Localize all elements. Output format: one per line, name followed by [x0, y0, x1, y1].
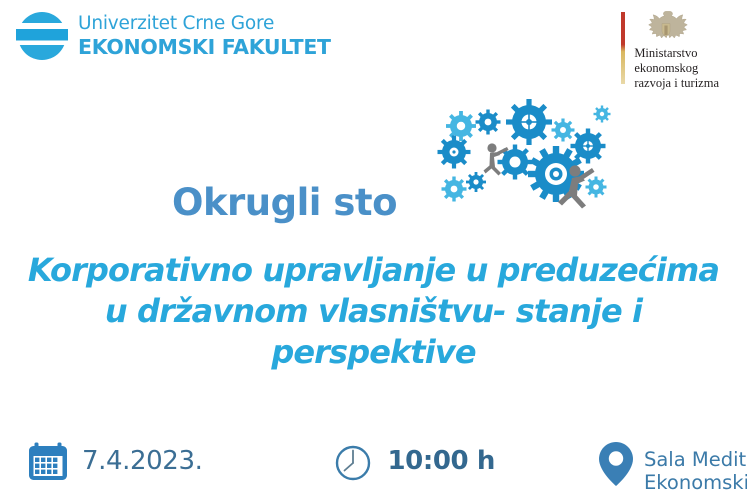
university-logo: Univerzitet Crne Gore EKONOMSKI FAKULTET — [14, 10, 331, 62]
title-line-1: Korporativno upravljanje u preduzećima — [28, 251, 719, 289]
ministry-name-line2: ekonomskog — [634, 61, 719, 76]
gear-icon — [552, 119, 575, 142]
university-name: Univerzitet Crne Gore — [78, 15, 331, 34]
gear-icon — [476, 110, 501, 135]
location-line-2: Ekonomski fakultet — [644, 472, 747, 495]
page-title: Korporativno upravljanje u preduzećima u… — [0, 250, 747, 373]
clock-icon — [332, 440, 374, 482]
ministry-name-line1: Ministarstvo — [634, 46, 719, 61]
gear-icon — [446, 111, 476, 141]
calendar-icon — [27, 440, 69, 482]
event-location-text: Sala Mediteran Ekonomski fakultet — [644, 440, 747, 494]
title-line-2: u državnom vlasništvu- stanje i perspekt… — [0, 291, 747, 373]
event-date-text: 7.4.2023. — [82, 446, 202, 476]
event-location: Sala Mediteran Ekonomski fakultet — [595, 440, 747, 494]
location-line-1: Sala Mediteran — [644, 449, 747, 472]
gear-icon — [571, 129, 606, 164]
event-details-row: 7.4.2023. 10:00 h Sala Mediteran Ekonoms… — [0, 436, 747, 498]
faculty-name: EKONOMSKI FAKULTET — [78, 37, 331, 58]
ministry-name: Ministarstvo ekonomskog razvoja i turizm… — [634, 46, 719, 90]
event-type-kicker: Okrugli sto — [0, 181, 658, 224]
ministry-logo: Ministarstvo ekonomskog razvoja i turizm… — [621, 8, 719, 90]
montenegro-coat-of-arms-icon — [644, 8, 688, 42]
gear-icon — [438, 136, 471, 169]
ministry-name-line3: razvoja i turizma — [634, 76, 719, 91]
ministry-accent-bar — [621, 12, 625, 84]
event-time-text: 10:00 h — [387, 446, 495, 476]
gear-icon — [506, 99, 552, 145]
globe-book-logo-icon — [14, 10, 70, 62]
event-date: 7.4.2023. — [27, 440, 202, 482]
event-poster: Univerzitet Crne Gore EKONOMSKI FAKULTET… — [0, 0, 747, 498]
gear-icon — [594, 106, 611, 123]
map-pin-icon — [595, 440, 637, 488]
event-time: 10:00 h — [332, 440, 495, 482]
